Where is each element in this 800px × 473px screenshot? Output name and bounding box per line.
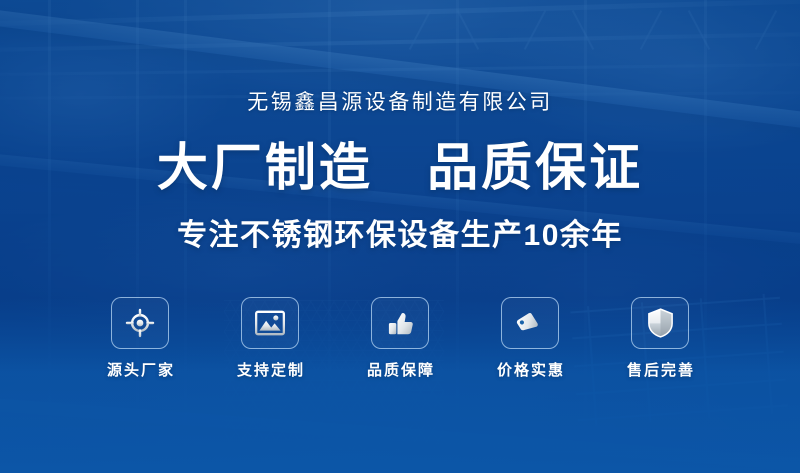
crosshair-target-icon (125, 308, 155, 338)
feature-icon-box (111, 297, 169, 349)
feature-list: 源头厂家 支持定制 (93, 297, 707, 380)
company-name: 无锡鑫昌源设备制造有限公司 (247, 90, 553, 116)
price-tag-icon (516, 309, 545, 338)
feature-item-customization[interactable]: 支持定制 (223, 297, 317, 380)
feature-label: 价格实惠 (495, 362, 565, 380)
feature-icon-box (371, 297, 429, 349)
feature-label: 品质保障 (365, 362, 435, 380)
image-picture-icon (255, 310, 285, 336)
feature-icon-box (631, 297, 689, 349)
feature-label: 支持定制 (235, 362, 305, 380)
feature-item-after-sales[interactable]: 售后完善 (613, 297, 707, 380)
promo-banner: 无锡鑫昌源设备制造有限公司 大厂制造 品质保证 专注不锈钢环保设备生产10余年 (0, 0, 800, 473)
subheadline: 专注不锈钢环保设备生产10余年 (177, 217, 623, 255)
feature-label: 源头厂家 (105, 362, 175, 380)
headline-left-text: 大厂制造 (157, 139, 373, 196)
headline-right-text: 品质保证 (427, 139, 643, 196)
headline: 大厂制造 品质保证 (157, 138, 643, 198)
feature-label: 售后完善 (625, 362, 695, 380)
feature-item-affordable-price[interactable]: 价格实惠 (483, 297, 577, 380)
feature-item-quality-guarantee[interactable]: 品质保障 (353, 297, 447, 380)
feature-item-source-factory[interactable]: 源头厂家 (93, 297, 187, 380)
banner-content: 无锡鑫昌源设备制造有限公司 大厂制造 品质保证 专注不锈钢环保设备生产10余年 (0, 0, 800, 473)
thumbs-up-icon (386, 309, 415, 338)
shield-icon (647, 308, 674, 338)
feature-icon-box (501, 297, 559, 349)
feature-icon-box (241, 297, 299, 349)
